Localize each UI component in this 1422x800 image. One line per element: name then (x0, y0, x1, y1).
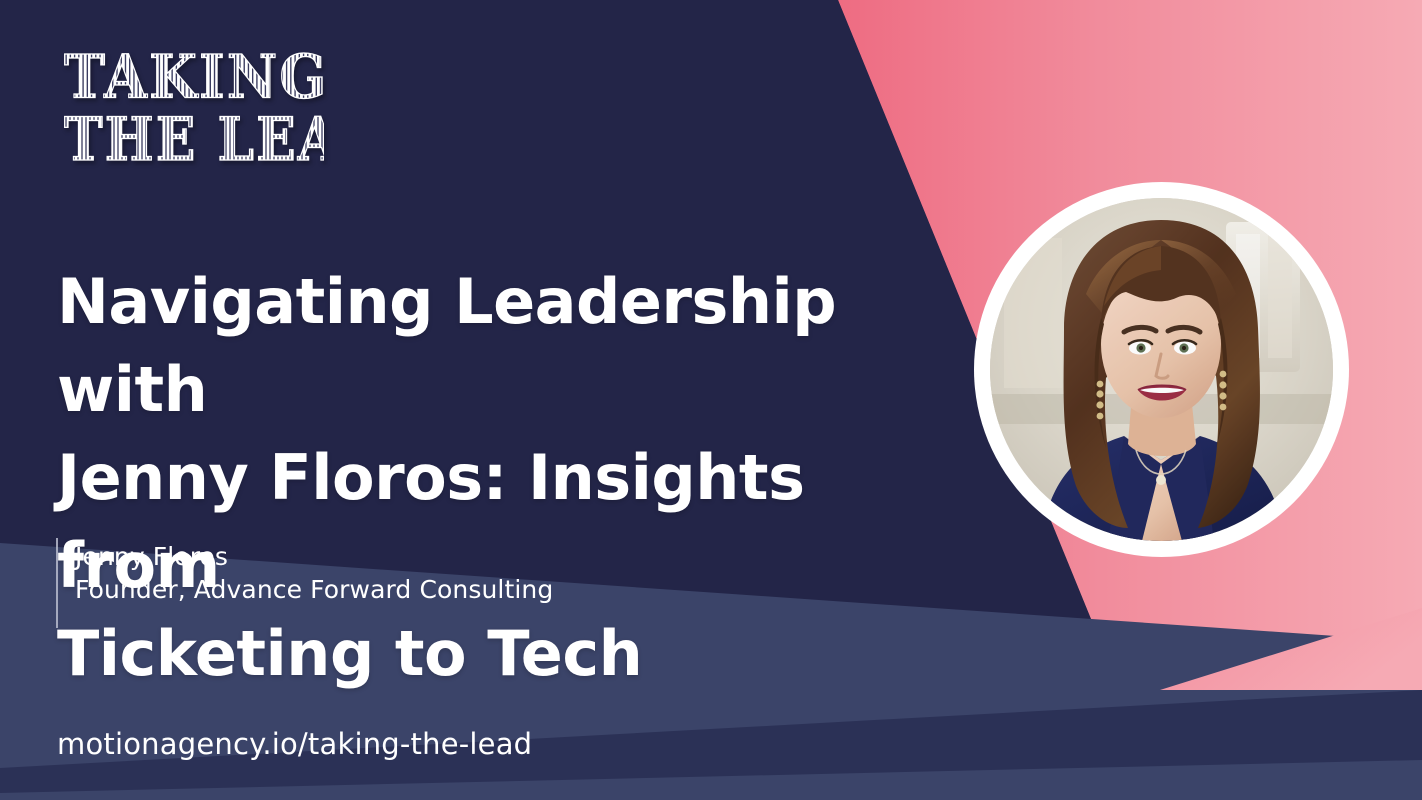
svg-text:THE LEAD: THE LEAD (64, 104, 324, 174)
svg-text:TAKING: TAKING (64, 44, 324, 112)
episode-title-card: TAKING THE LEAD Navigating Leadership wi… (0, 0, 1422, 800)
logo-wordmark-line-2: THE LEAD (64, 104, 324, 174)
speaker-divider-rule (56, 538, 58, 628)
logo-wordmark-line-1: TAKING (64, 44, 324, 112)
speaker-name: Jenny Floros (75, 540, 553, 573)
speaker-portrait-photo (990, 198, 1333, 541)
speaker-portrait-ring (974, 182, 1349, 557)
brand-logo: TAKING THE LEAD (64, 44, 324, 174)
footer-url[interactable]: motionagency.io/taking-the-lead (57, 727, 532, 761)
episode-title: Navigating Leadership with Jenny Floros:… (57, 258, 987, 698)
speaker-role: Founder, Advance Forward Consulting (75, 573, 553, 606)
speaker-block: Jenny Floros Founder, Advance Forward Co… (56, 538, 553, 628)
